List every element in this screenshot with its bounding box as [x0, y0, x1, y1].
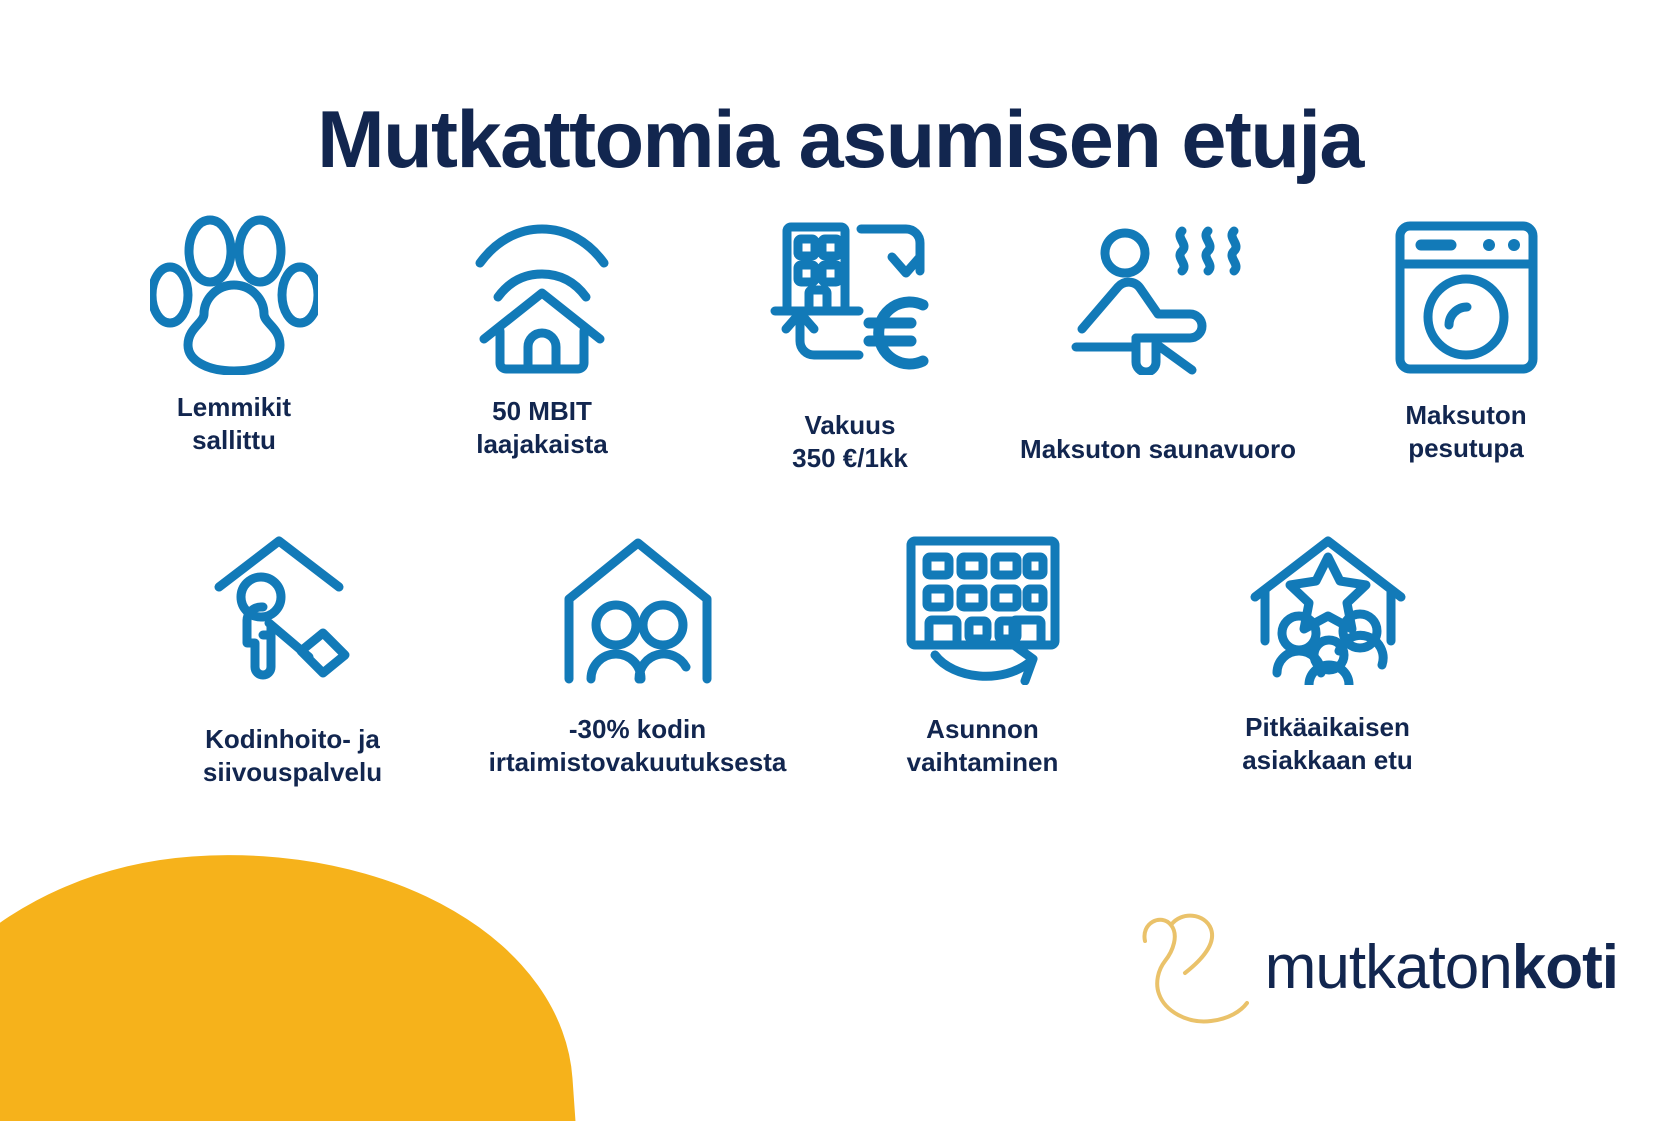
page-title: Mutkattomia asumisen etuja	[0, 98, 1680, 183]
infographic-page: Mutkattomia asumisen etuja Lemmikit sall…	[0, 0, 1680, 1121]
benefit-item-loyalty: Pitkäaikaisen asiakkaan etu	[1155, 525, 1500, 778]
benefit-label: Maksuton saunavuoro	[1020, 433, 1296, 466]
wifi-house-icon	[462, 205, 622, 375]
benefit-label: 50 MBIT laajakaista	[476, 395, 608, 462]
benefits-row-2: Kodinhoito- ja siivouspalvelu -30% kodin…	[120, 525, 1500, 790]
building-euro-exchange-icon	[765, 205, 935, 375]
benefit-item-cleaning: Kodinhoito- ja siivouspalvelu	[120, 525, 465, 790]
benefit-item-pets: Lemmikit sallittu	[80, 205, 388, 458]
benefit-item-broadband: 50 MBIT laajakaista	[388, 205, 696, 462]
logo-name-light: mutkaton	[1265, 933, 1512, 1002]
benefit-item-laundry: Maksuton pesutupa	[1312, 205, 1620, 466]
apartment-swap-arrow-icon	[903, 525, 1063, 685]
logo-wordmark: mutkatonkoti	[1265, 937, 1618, 999]
benefits-row-1: Lemmikit sallittu 50 MBIT laajakaista	[80, 205, 1620, 476]
benefit-item-sauna: Maksuton saunavuoro	[1004, 205, 1312, 466]
washing-machine-icon	[1394, 205, 1539, 375]
benefit-label: Kodinhoito- ja siivouspalvelu	[203, 723, 382, 790]
house-star-family-icon	[1247, 525, 1409, 685]
heart-swirl-icon	[1131, 903, 1249, 1033]
benefit-label: Pitkäaikaisen asiakkaan etu	[1242, 711, 1413, 778]
sauna-person-steam-icon	[1070, 205, 1246, 375]
logo-name-bold: koti	[1512, 933, 1618, 1002]
benefit-label: -30% kodin irtaimistovakuutuksesta	[489, 713, 787, 780]
brand-logo: mutkatonkoti	[1131, 903, 1618, 1033]
benefit-item-deposit: Vakuus 350 €/1kk	[696, 205, 1004, 476]
benefit-label: Vakuus 350 €/1kk	[792, 409, 908, 476]
paw-print-icon	[150, 205, 318, 375]
benefit-label: Asunnon vaihtaminen	[907, 713, 1059, 780]
benefit-item-insurance: -30% kodin irtaimistovakuutuksesta	[465, 525, 810, 780]
house-two-people-icon	[563, 525, 713, 685]
benefit-label: Lemmikit sallittu	[177, 391, 291, 458]
decorative-yellow-blob	[0, 831, 583, 1121]
person-mop-roof-icon	[213, 525, 373, 685]
benefit-item-apartment-swap: Asunnon vaihtaminen	[810, 525, 1155, 780]
benefit-label: Maksuton pesutupa	[1405, 399, 1526, 466]
